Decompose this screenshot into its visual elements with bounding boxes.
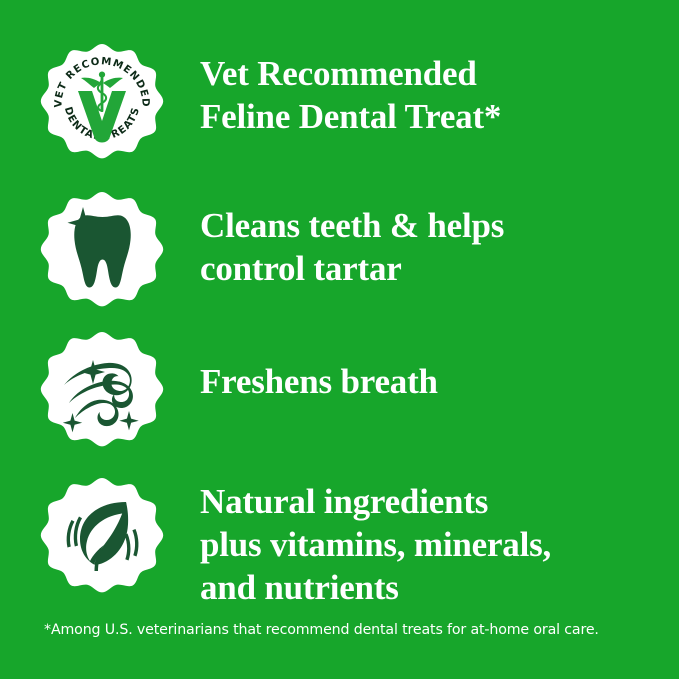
feature-text: Cleans teeth & helps control tartar [200, 190, 504, 290]
feature-row: Natural ingredients plus vitamins, miner… [40, 476, 660, 609]
feature-text: Vet Recommended Feline Dental Treat* [200, 42, 501, 138]
feature-text: Freshens breath [200, 330, 438, 403]
feature-row: VET RECOMMENDED DENTAL TREATS [40, 42, 660, 166]
feature-row: Freshens breath [40, 330, 660, 454]
footnote-disclaimer: *Among U.S. veterinarians that recommend… [44, 622, 599, 639]
product-benefits-panel: VET RECOMMENDED DENTAL TREATS [0, 0, 679, 679]
vet-recommended-seal-icon: VET RECOMMENDED DENTAL TREATS [40, 42, 164, 166]
fresh-breath-swirl-icon [40, 330, 164, 454]
sparkling-tooth-icon [40, 190, 164, 314]
leaf-icon [40, 476, 164, 600]
feature-row: Cleans teeth & helps control tartar [40, 190, 660, 314]
feature-text: Natural ingredients plus vitamins, miner… [200, 476, 551, 609]
